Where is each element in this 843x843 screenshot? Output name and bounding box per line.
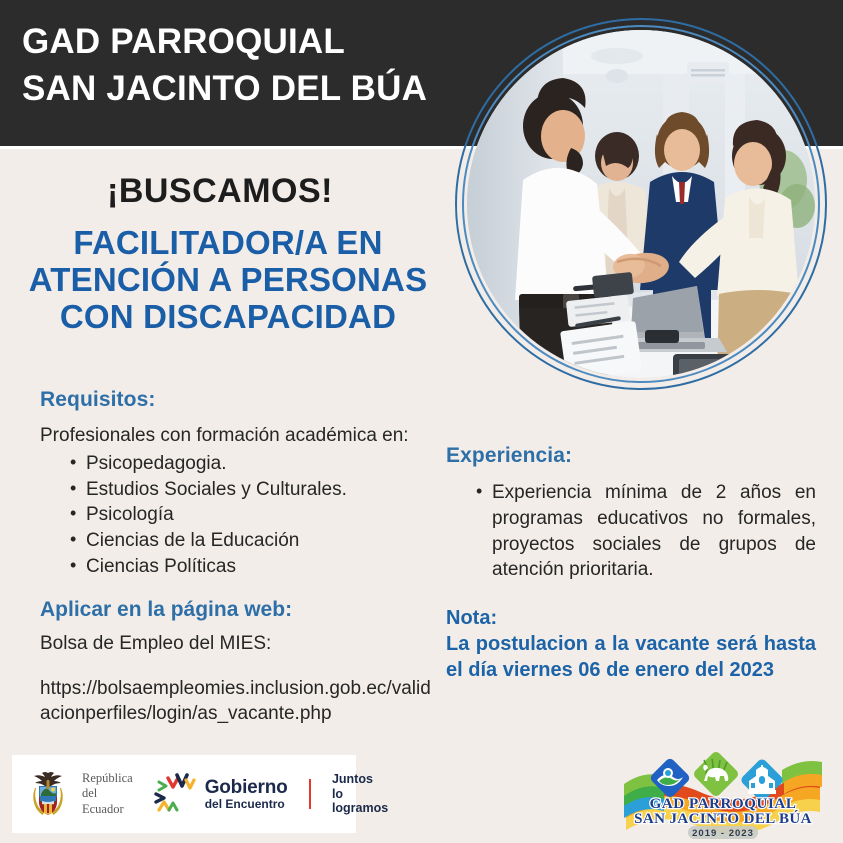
note-heading: Nota: bbox=[446, 607, 816, 630]
gobierno-wordmark: Gobierno del Encuentro bbox=[205, 778, 288, 810]
job-posting-poster: GAD PARROQUIAL SAN JACINTO DEL BÚA bbox=[0, 0, 843, 843]
organization-title-line2: SAN JACINTO DEL BÚA bbox=[22, 66, 492, 113]
job-title: FACILITADOR/A EN ATENCIÓN A PERSONAS CON… bbox=[0, 225, 456, 336]
requirements-intro: Profesionales con formación académica en… bbox=[40, 424, 432, 449]
ecuador-label-line2: del Ecuador bbox=[82, 786, 133, 817]
chevron-arrows-icon bbox=[153, 772, 197, 816]
tagline-line1: Juntos bbox=[332, 772, 389, 787]
photo-image bbox=[467, 30, 815, 378]
gad-logo-line2: SAN JACINTO DEL BÚA bbox=[634, 810, 812, 827]
gobierno-word1: Gobierno bbox=[205, 778, 288, 797]
list-item: Estudios Sociales y Culturales. bbox=[70, 477, 432, 503]
job-title-line1: FACILITADOR/A EN bbox=[0, 225, 456, 262]
gobierno-del-encuentro-logo: Gobierno del Encuentro bbox=[153, 772, 288, 816]
organization-title: GAD PARROQUIAL SAN JACINTO DEL BÚA bbox=[22, 19, 492, 112]
ecuador-label: República del Ecuador bbox=[82, 771, 133, 817]
requirements-heading: Requisitos: bbox=[40, 388, 432, 412]
gad-parroquial-logo: GAD PARROQUIAL SAN JACINTO DEL BÚA 2019 … bbox=[624, 752, 822, 840]
job-title-line3: CON DISCAPACIDAD bbox=[0, 299, 456, 336]
gobierno-word2: del Encuentro bbox=[205, 798, 288, 810]
gad-logo-period: 2019 - 2023 bbox=[692, 828, 754, 839]
list-item: Experiencia mínima de 2 años en programa… bbox=[476, 480, 816, 583]
requirements-list: Psicopedagogia. Estudios Sociales y Cult… bbox=[40, 451, 432, 580]
right-column: Experiencia: Experiencia mínima de 2 año… bbox=[446, 444, 816, 683]
apply-heading: Aplicar en la página web: bbox=[40, 598, 432, 622]
government-tagline: Juntos lo logramos bbox=[332, 772, 389, 816]
ecuador-coat-of-arms-icon bbox=[26, 770, 70, 818]
government-logos-box: República del Ecuador Gobie bbox=[12, 755, 356, 833]
gad-logo-line1: GAD PARROQUIAL bbox=[650, 796, 797, 812]
list-item: Ciencias de la Educación bbox=[70, 528, 432, 554]
tagline-line2: lo logramos bbox=[332, 787, 389, 817]
experience-list: Experiencia mínima de 2 años en programa… bbox=[446, 480, 816, 583]
logo-divider bbox=[309, 779, 311, 809]
team-handshake-photo bbox=[455, 18, 827, 390]
apply-subtitle: Bolsa de Empleo del MIES: bbox=[40, 633, 432, 655]
list-item: Ciencias Políticas bbox=[70, 554, 432, 580]
organization-title-line1: GAD PARROQUIAL bbox=[22, 22, 345, 61]
left-column: Requisitos: Profesionales con formación … bbox=[40, 388, 432, 726]
application-url[interactable]: https://bolsaempleomies.inclusion.gob.ec… bbox=[40, 677, 432, 726]
list-item: Psicopedagogia. bbox=[70, 451, 432, 477]
looking-for-headline: ¡BUSCAMOS! bbox=[0, 172, 440, 211]
ecuador-label-line1: República bbox=[82, 771, 133, 786]
job-title-line2: ATENCIÓN A PERSONAS bbox=[0, 262, 456, 299]
list-item: Psicología bbox=[70, 502, 432, 528]
experience-heading: Experiencia: bbox=[446, 444, 816, 468]
note-text: La postulacion a la vacante será hasta e… bbox=[446, 631, 816, 683]
